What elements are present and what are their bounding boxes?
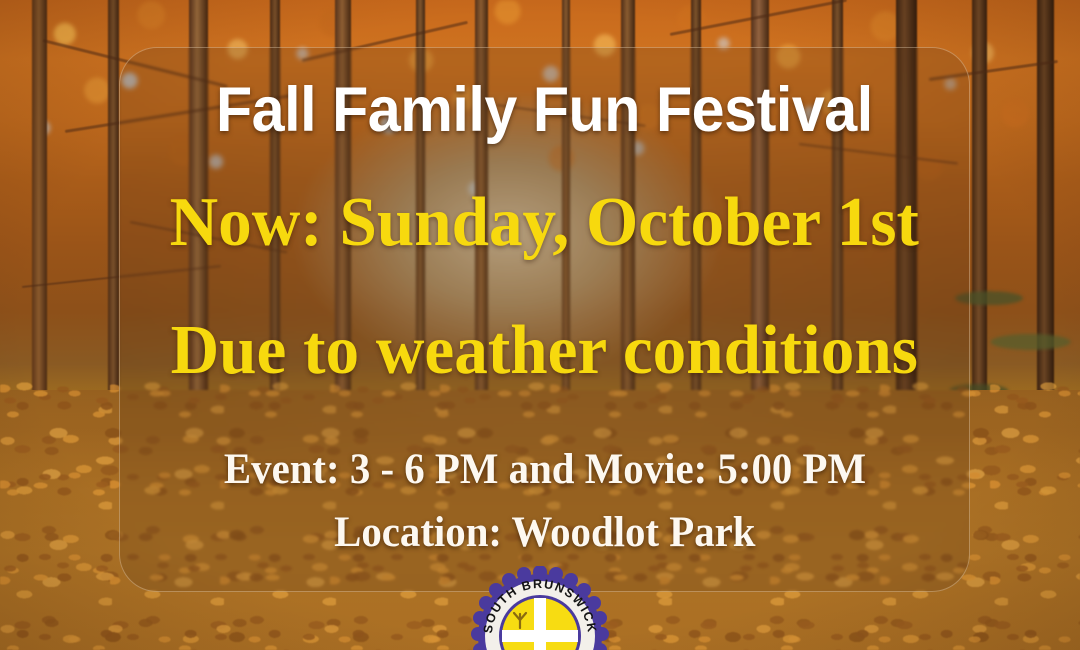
reschedule-reason-headline: Due to weather conditions <box>171 316 918 386</box>
page-title: Fall Family Fun Festival <box>216 78 873 142</box>
fall-festival-poster: Fall Family Fun Festival Now: Sunday, Oc… <box>0 0 1080 650</box>
township-seal: SOUTH BRUNSWICK <box>470 566 610 650</box>
content-overlay-panel: Fall Family Fun Festival Now: Sunday, Oc… <box>119 47 970 592</box>
event-location-text: Location: Woodlot Park <box>334 511 755 554</box>
south-brunswick-seal-icon: SOUTH BRUNSWICK <box>470 566 610 650</box>
reschedule-date-headline: Now: Sunday, October 1st <box>170 188 919 258</box>
event-times-text: Event: 3 - 6 PM and Movie: 5:00 PM <box>223 448 865 491</box>
